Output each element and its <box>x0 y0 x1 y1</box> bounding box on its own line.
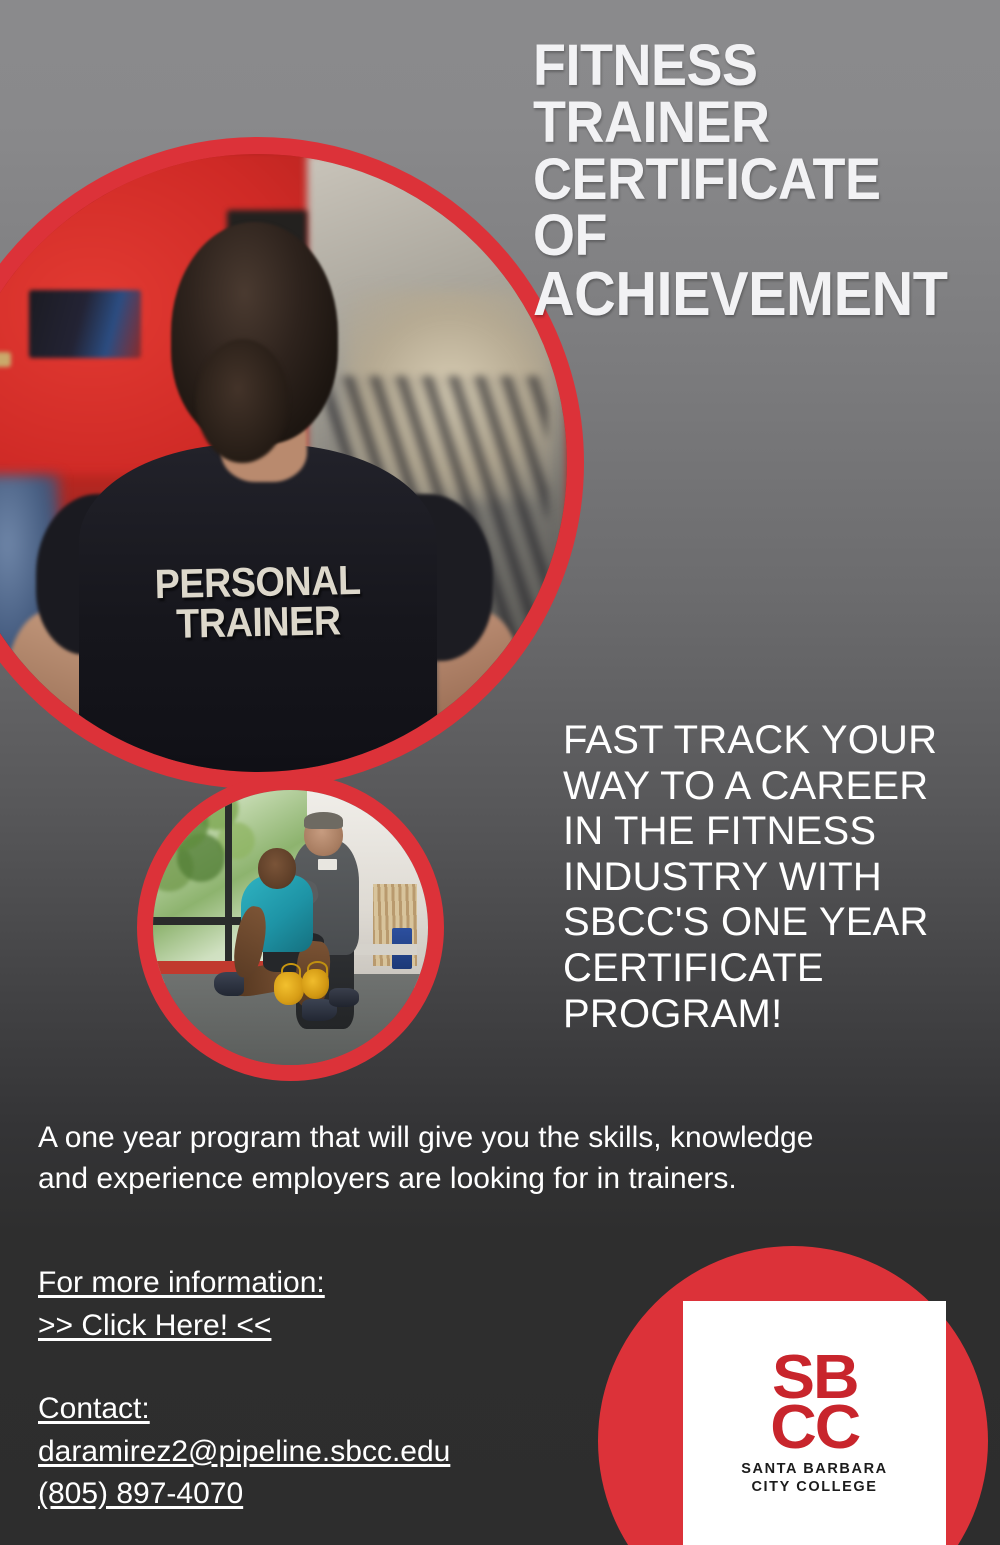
more-info-block: For more information: >> Click Here! << <box>38 1262 325 1347</box>
coach-hair <box>304 812 343 829</box>
poster-subheadline: FAST TRACK YOUR WAY TO A CAREER IN THE F… <box>563 718 963 1037</box>
description-line-2: and experience employers are looking for… <box>38 1159 948 1200</box>
gym-tv-screen <box>29 290 140 358</box>
sbcc-logo-mark: SB CC <box>772 1353 858 1452</box>
logo-mark-line-2: CC <box>770 1403 859 1453</box>
main-photo-image: PERSONAL TRAINER <box>0 154 567 772</box>
secondary-photo-circle <box>137 774 444 1081</box>
kettlebell-1 <box>274 972 304 1005</box>
headline-line-2: TRAINER <box>533 95 970 152</box>
more-information-label[interactable]: For more information: <box>38 1262 325 1305</box>
headline-line-1: FITNESS <box>533 38 970 95</box>
subhead-line-2: WAY TO A CAREER <box>563 764 963 810</box>
click-here-link[interactable]: >> Click Here! << <box>38 1305 325 1348</box>
subhead-line-7: PROGRAM! <box>563 992 963 1038</box>
sbcc-logo-wordmark: SANTA BARBARA CITY COLLEGE <box>741 1461 887 1497</box>
headline-line-4: OF <box>533 208 970 265</box>
subhead-line-5: SBCC'S ONE YEAR <box>563 900 963 946</box>
subhead-line-4: INDUSTRY WITH <box>563 855 963 901</box>
shirt-text: PERSONAL TRAINER <box>145 560 370 645</box>
contact-label: Contact: <box>38 1388 450 1431</box>
contact-email-link[interactable]: daramirez2@pipeline.sbcc.edu <box>38 1431 450 1474</box>
kettlebell-2 <box>302 969 330 999</box>
poster-canvas: PERSONAL TRAINER <box>0 0 1000 1545</box>
logo-wordmark-line-2: CITY COLLEGE <box>741 1479 887 1497</box>
contact-block: Contact: daramirez2@pipeline.sbcc.edu (8… <box>38 1388 450 1516</box>
subhead-line-6: CERTIFICATE <box>563 946 963 992</box>
shirt-text-line-2: TRAINER <box>155 600 362 644</box>
window-mullion-vertical <box>225 790 232 983</box>
subhead-line-3: IN THE FITNESS <box>563 809 963 855</box>
coach-shoe <box>329 988 359 1007</box>
coach-name-tag <box>318 859 337 870</box>
main-photo-circle: PERSONAL TRAINER <box>0 137 584 789</box>
logo-wordmark-line-1: SANTA BARBARA <box>741 1461 887 1479</box>
description-line-1: A one year program that will give you th… <box>38 1118 948 1159</box>
gym-wall-bar <box>0 352 11 367</box>
contact-phone-link[interactable]: (805) 897-4070 <box>38 1473 450 1516</box>
poster-headline: FITNESS TRAINER CERTIFICATE OF ACHIEVEME… <box>533 38 970 326</box>
client-head <box>258 848 297 889</box>
headline-line-3: CERTIFICATE <box>533 152 970 209</box>
subhead-line-1: FAST TRACK YOUR <box>563 718 963 764</box>
trainer-hair-bun <box>196 339 289 463</box>
sbcc-logo: SB CC SANTA BARBARA CITY COLLEGE <box>683 1301 946 1545</box>
headline-line-5: ACHIEVEMENT <box>533 265 970 326</box>
program-description: A one year program that will give you th… <box>38 1118 948 1200</box>
